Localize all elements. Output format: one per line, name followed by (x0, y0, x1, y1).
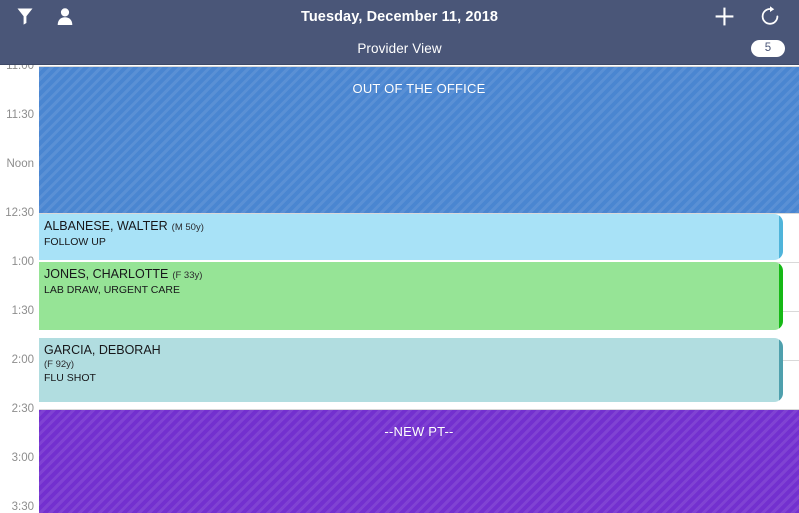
time-label: 11:00 (0, 65, 34, 72)
patient-demographics: (M 50y) (172, 222, 204, 233)
time-label: 11:30 (0, 109, 34, 121)
appointment-reason: FOLLOW UP (44, 235, 783, 249)
time-label: 12:30 (0, 207, 34, 219)
top-navigation-bar: Tuesday, December 11, 2018 (0, 0, 799, 33)
appointment-garcia[interactable]: GARCIA, DEBORAH(F 92y)FLU SHOT (39, 338, 783, 402)
time-label: 3:30 (0, 501, 34, 513)
time-label: 2:30 (0, 403, 34, 415)
appointment-count-badge[interactable]: 5 (751, 40, 785, 57)
time-label: Noon (0, 158, 34, 170)
block-label: --NEW PT-- (384, 424, 453, 439)
appointment-albanese[interactable]: ALBANESE, WALTER(M 50y)FOLLOW UP (39, 214, 783, 260)
appointment-jones[interactable]: JONES, CHARLOTTE(F 33y)LAB DRAW, URGENT … (39, 262, 783, 330)
patient-name: GARCIA, DEBORAH (44, 343, 783, 358)
appointment-reason: LAB DRAW, URGENT CARE (44, 283, 783, 297)
person-icon[interactable] (54, 6, 76, 28)
filter-icon[interactable] (14, 6, 36, 28)
time-label: 2:00 (0, 354, 34, 366)
time-label: 1:00 (0, 256, 34, 268)
day-schedule-grid[interactable]: OUT OF THE OFFICE--NEW PT--ALBANESE, WAL… (0, 65, 799, 513)
patient-demographics: (F 33y) (172, 270, 202, 281)
time-label: 3:00 (0, 452, 34, 464)
new-patient-block[interactable]: --NEW PT-- (39, 410, 799, 513)
appointment-reason: FLU SHOT (44, 371, 783, 385)
navbar-left-actions (0, 6, 150, 28)
time-gutter: 11:0011:30Noon12:301:001:302:002:303:003… (0, 65, 39, 513)
navbar-right-actions (649, 6, 799, 28)
block-label: OUT OF THE OFFICE (353, 81, 486, 96)
patient-demographics: (F 92y) (44, 358, 783, 371)
time-label: 1:30 (0, 305, 34, 317)
provider-view-label: Provider View (150, 41, 649, 56)
patient-name: JONES, CHARLOTTE(F 33y) (44, 267, 783, 283)
out-of-office-block[interactable]: OUT OF THE OFFICE (39, 67, 799, 213)
view-subheader: Provider View 5 (0, 33, 799, 65)
patient-name: ALBANESE, WALTER(M 50y) (44, 219, 783, 235)
current-date-title: Tuesday, December 11, 2018 (150, 9, 649, 25)
events-layer: OUT OF THE OFFICE--NEW PT--ALBANESE, WAL… (0, 65, 799, 513)
plus-icon[interactable] (713, 6, 735, 28)
subheader-right-actions: 5 (649, 40, 799, 57)
refresh-icon[interactable] (759, 6, 781, 28)
provider-schedule-screen: Tuesday, December 11, 2018 Provider View… (0, 0, 799, 513)
